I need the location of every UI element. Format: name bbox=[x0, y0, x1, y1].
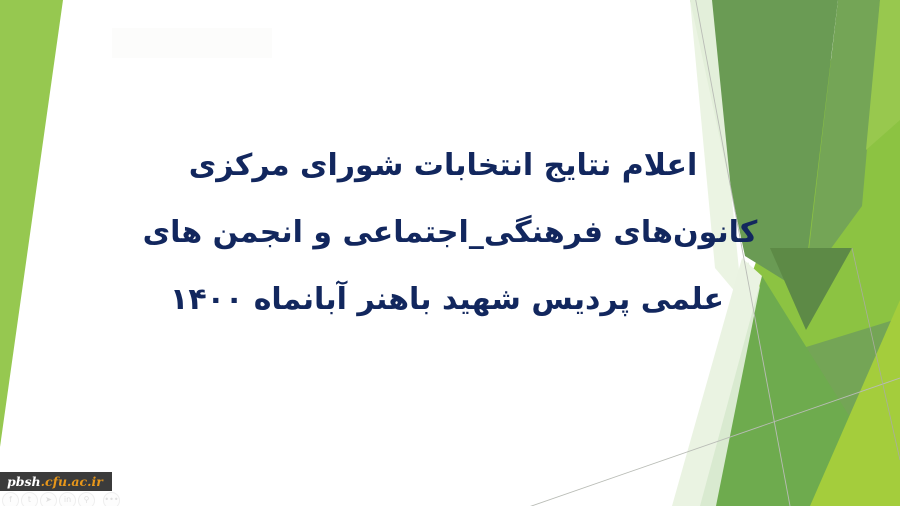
faint-header-placeholder-band bbox=[112, 28, 272, 58]
linkedin-icon[interactable]: in bbox=[59, 492, 76, 506]
telegram-icon[interactable]: ➤ bbox=[40, 492, 57, 506]
title-line-3: علمی پردیس شهید باهنر آبانماه ۱۴۰۰ bbox=[0, 266, 900, 333]
facebook-icon[interactable]: f bbox=[2, 492, 19, 506]
watermark-site-domain: .cfu.ac.ir bbox=[41, 474, 103, 489]
title-line-1: اعلام نتایج انتخابات شورای مرکزی bbox=[0, 132, 900, 199]
presentation-slide: اعلام نتایج انتخابات شورای مرکزی کانون‌ه… bbox=[0, 0, 900, 506]
twitter-icon[interactable]: t bbox=[21, 492, 38, 506]
search-icon[interactable]: ⚲ bbox=[78, 492, 95, 506]
title-line-2: کانون‌های فرهنگی_اجتماعی و انجمن های bbox=[0, 199, 900, 266]
watermark-site-name: pbsh bbox=[7, 474, 41, 489]
site-watermark: pbsh.cfu.ac.ir bbox=[0, 472, 112, 491]
more-icon[interactable]: ••• bbox=[103, 492, 120, 506]
slide-title: اعلام نتایج انتخابات شورای مرکزی کانون‌ه… bbox=[0, 132, 900, 333]
social-share-row[interactable]: f t ➤ in ⚲ ••• bbox=[2, 492, 120, 506]
